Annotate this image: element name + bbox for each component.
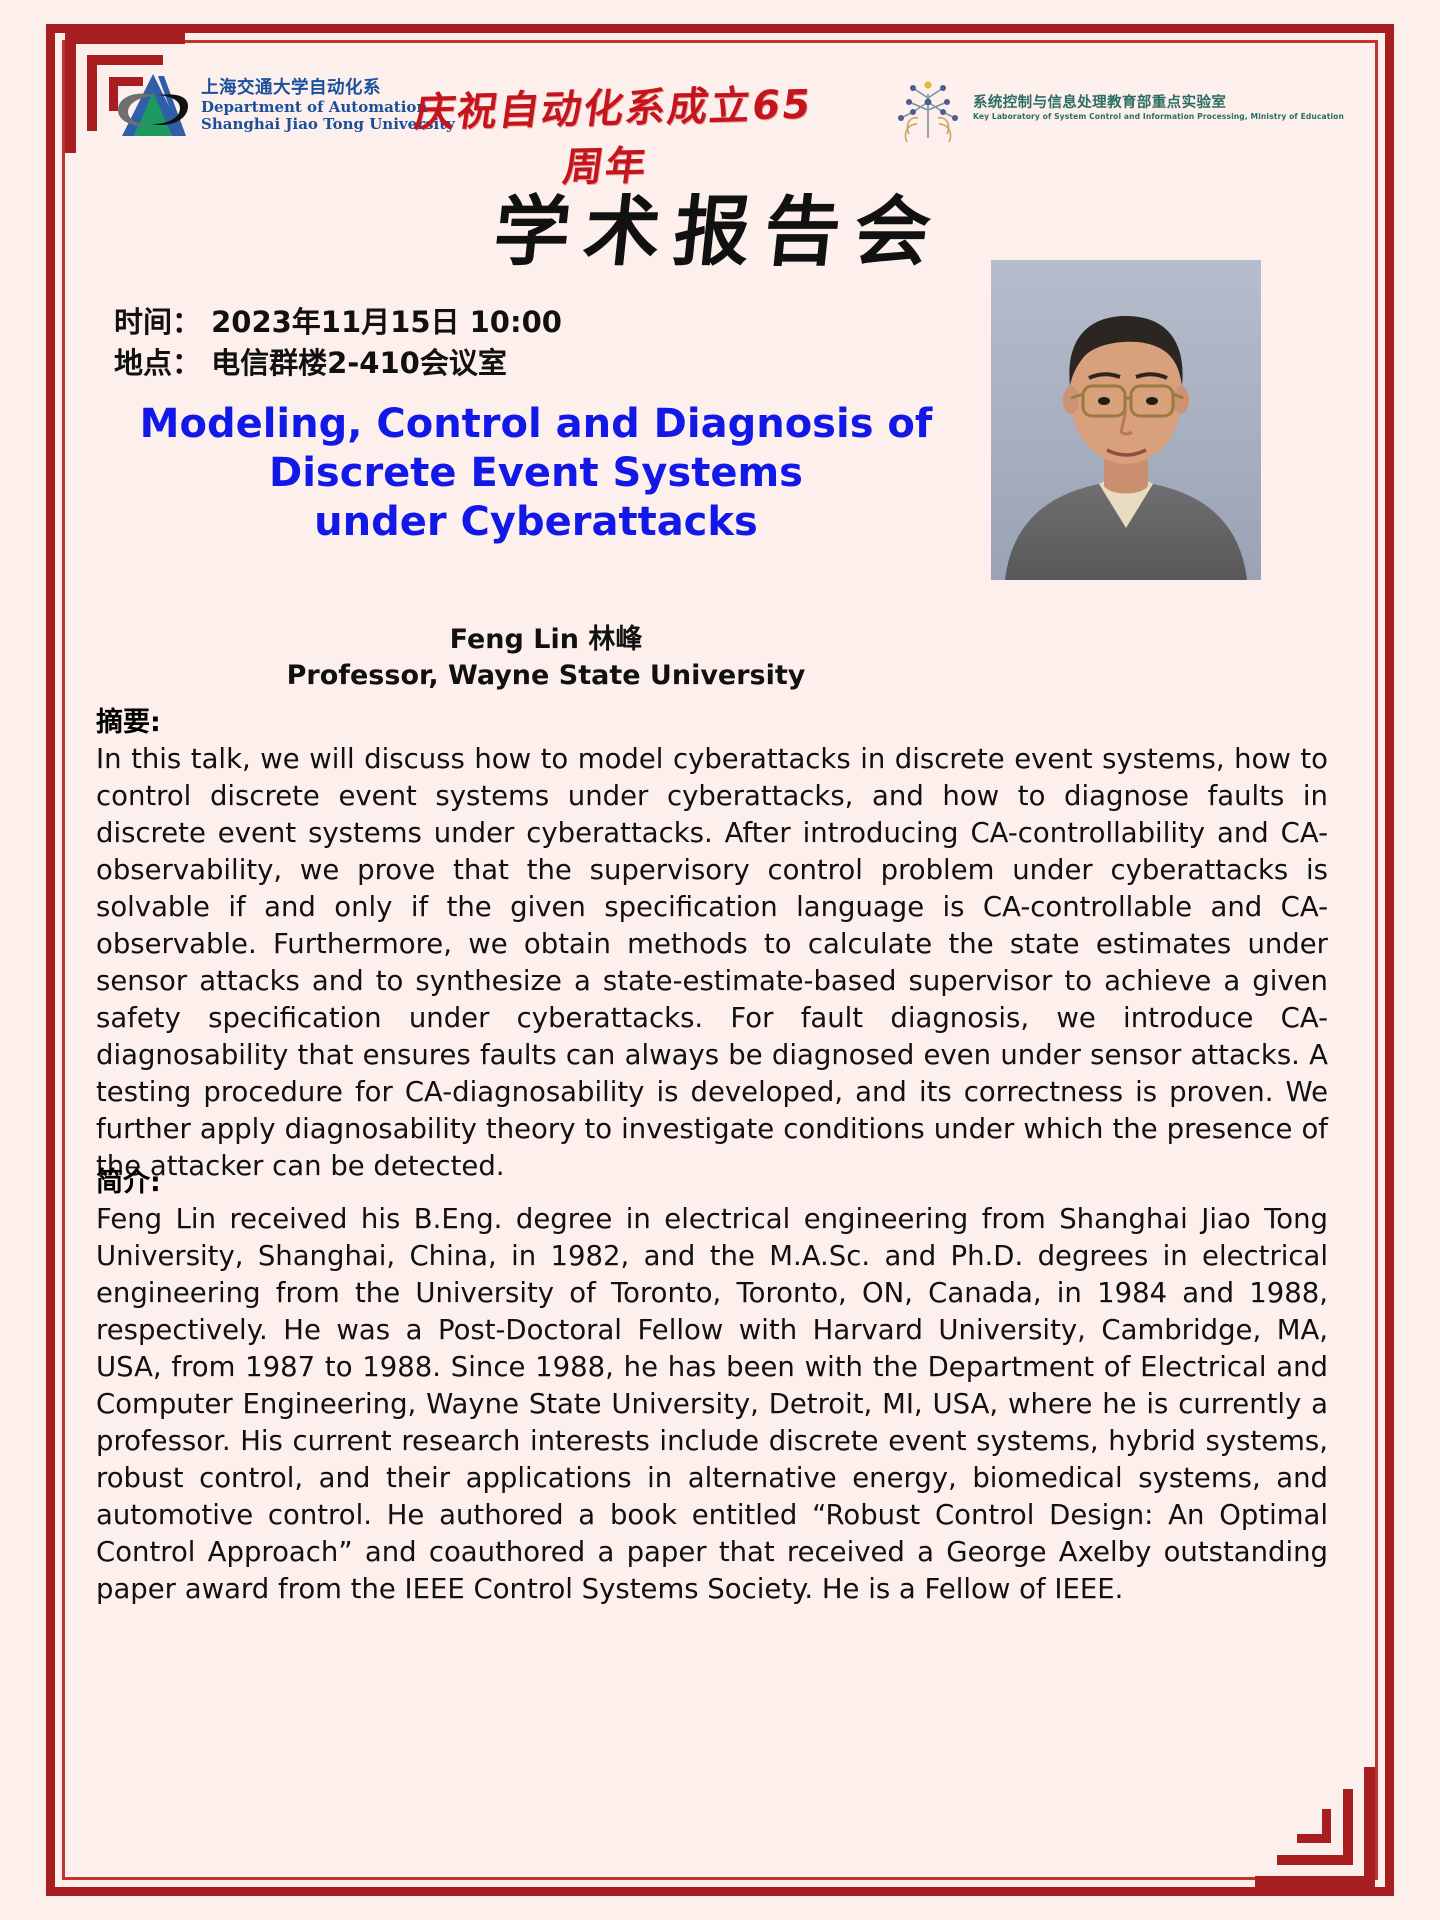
poster-content: 上海交通大学自动化系 Department of Automation Shan… (86, 52, 1354, 1872)
abstract-section: 摘要: In this talk, we will discuss how to… (96, 700, 1328, 1185)
speaker-photo (991, 260, 1261, 580)
sjtu-logo-icon (114, 70, 192, 142)
bio-text: Feng Lin received his B.Eng. degree in e… (96, 1201, 1328, 1608)
event-location: 地点： 电信群楼2-410会议室 (114, 343, 562, 384)
speaker-info: Feng Lin 林峰 Professor, Wayne State Unive… (186, 622, 906, 695)
key-lab-logo: 系统控制与信息处理教育部重点实验室 Key Laboratory of Syst… (891, 72, 1344, 144)
abstract-heading: 摘要: (96, 700, 1328, 739)
talk-title: Modeling, Control and Diagnosis of Discr… (96, 400, 976, 546)
lab-logo-text: 系统控制与信息处理教育部重点实验室 Key Laboratory of Syst… (973, 94, 1344, 122)
talk-title-line-2: Discrete Event Systems (96, 449, 976, 498)
event-details: 时间： 2023年11月15日 10:00 地点： 电信群楼2-410会议室 (114, 302, 562, 384)
abstract-text: In this talk, we will discuss how to mod… (96, 741, 1328, 1185)
bio-section: 简介: Feng Lin received his B.Eng. degree … (96, 1160, 1328, 1608)
bio-heading: 简介: (96, 1160, 1328, 1199)
lab-circuit-brain-icon (891, 72, 965, 144)
lab-name-cn: 系统控制与信息处理教育部重点实验室 (973, 94, 1344, 112)
poster-header: 上海交通大学自动化系 Department of Automation Shan… (86, 52, 1354, 162)
speaker-name: Feng Lin 林峰 (186, 622, 906, 658)
talk-title-line-3: under Cyberattacks (96, 498, 976, 547)
lab-name-en: Key Laboratory of System Control and Inf… (973, 112, 1344, 121)
speaker-affiliation: Professor, Wayne State University (186, 658, 906, 694)
event-time: 时间： 2023年11月15日 10:00 (114, 302, 562, 343)
talk-title-line-1: Modeling, Control and Diagnosis of (96, 400, 976, 449)
